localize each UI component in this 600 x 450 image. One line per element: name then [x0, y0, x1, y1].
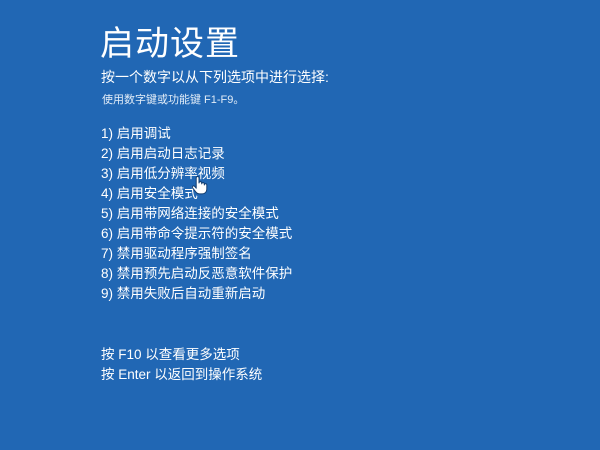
- option-label: 禁用驱动程序强制签名: [117, 246, 252, 261]
- footer-return-os-line: 按 Enter 以返回到操作系统: [101, 365, 541, 385]
- option-key: 1): [101, 126, 113, 141]
- option-label: 启用调试: [117, 126, 171, 141]
- startup-option-8[interactable]: 8) 禁用预先启动反恶意软件保护: [101, 264, 541, 284]
- option-key: 6): [101, 226, 113, 241]
- option-label: 禁用失败后自动重新启动: [117, 286, 266, 301]
- option-label: 启用启动日志记录: [117, 146, 225, 161]
- option-key: 9): [101, 286, 113, 301]
- startup-settings-screen: 启动设置 按一个数字以从下列选项中进行选择: 使用数字键或功能键 F1-F9。 …: [0, 0, 600, 450]
- page-title: 启动设置: [100, 24, 240, 64]
- startup-option-9[interactable]: 9) 禁用失败后自动重新启动: [101, 284, 541, 304]
- key-hint-text: 使用数字键或功能键 F1-F9。: [102, 93, 244, 108]
- startup-option-1[interactable]: 1) 启用调试: [101, 124, 541, 144]
- option-label: 启用带命令提示符的安全模式: [117, 226, 293, 241]
- startup-settings-content: 启动设置 按一个数字以从下列选项中进行选择: 使用数字键或功能键 F1-F9。 …: [100, 0, 570, 450]
- startup-option-6[interactable]: 6) 启用带命令提示符的安全模式: [101, 224, 541, 244]
- option-key: 3): [101, 166, 113, 181]
- startup-options-list: 1) 启用调试 2) 启用启动日志记录 3) 启用低分辨率视频 4) 启用安全模…: [101, 124, 541, 304]
- startup-option-7[interactable]: 7) 禁用驱动程序强制签名: [101, 244, 541, 264]
- option-label: 启用低分辨率视频: [117, 166, 225, 181]
- startup-option-5[interactable]: 5) 启用带网络连接的安全模式: [101, 204, 541, 224]
- startup-option-3[interactable]: 3) 启用低分辨率视频: [101, 164, 541, 184]
- footer-more-options-line: 按 F10 以查看更多选项: [101, 345, 541, 365]
- option-label: 禁用预先启动反恶意软件保护: [117, 266, 293, 281]
- option-label: 启用安全模式: [117, 186, 198, 201]
- option-key: 7): [101, 246, 113, 261]
- startup-option-4[interactable]: 4) 启用安全模式: [101, 184, 541, 204]
- option-key: 5): [101, 206, 113, 221]
- option-key: 4): [101, 186, 113, 201]
- option-key: 2): [101, 146, 113, 161]
- footer-instructions: 按 F10 以查看更多选项 按 Enter 以返回到操作系统: [101, 345, 541, 385]
- option-key: 8): [101, 266, 113, 281]
- option-label: 启用带网络连接的安全模式: [117, 206, 279, 221]
- startup-option-2[interactable]: 2) 启用启动日志记录: [101, 144, 541, 164]
- instruction-text: 按一个数字以从下列选项中进行选择:: [101, 68, 329, 87]
